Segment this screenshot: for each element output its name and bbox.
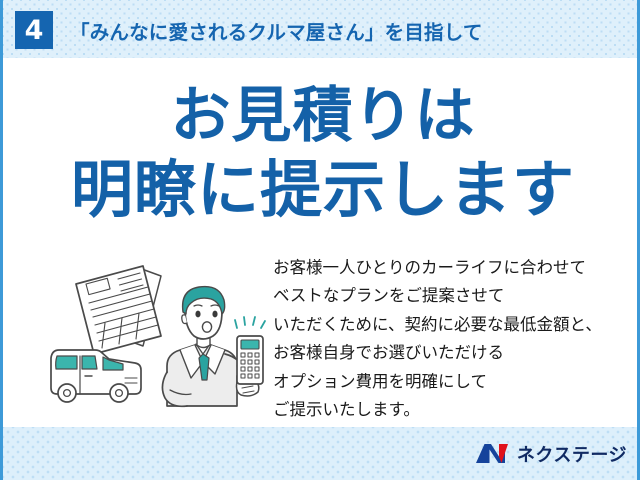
headline-line-2: 明瞭に提示します	[3, 157, 640, 224]
nextage-n-logo-icon	[475, 443, 509, 464]
body-copy-line: オプション費用を明確にして	[273, 368, 633, 396]
body-copy-line: ベストなプランをご提案させて	[273, 282, 633, 310]
page-title: お見積りは 明瞭に提示します	[3, 84, 640, 224]
step-number-badge: 4	[15, 11, 53, 49]
illustration-svg	[39, 262, 269, 412]
illustration-salesman-quotation	[39, 262, 269, 412]
body-copy-line: ご提示いたします。	[273, 396, 633, 424]
header-inner: 4 「みんなに愛されるクルマ屋さん」を目指して	[15, 11, 483, 49]
header-band: 4 「みんなに愛されるクルマ屋さん」を目指して	[3, 0, 640, 58]
headline-line-1: お見積りは	[3, 84, 640, 149]
footer-band: ネクステージ	[3, 427, 640, 480]
body-copy-line: お客様一人ひとりのカーライフに合わせて	[273, 254, 633, 282]
promo-slide: 4 「みんなに愛されるクルマ屋さん」を目指して お見積りは 明瞭に提示します お…	[0, 0, 640, 480]
header-title: 「みんなに愛されるクルマ屋さん」を目指して	[70, 16, 483, 45]
body-copy: お客様一人ひとりのカーライフに合わせて ベストなプランをご提案させて いただくた…	[273, 254, 633, 424]
body-copy-line: お客様自身でお選びいただける	[273, 339, 633, 367]
body-copy-line: いただくために、契約に必要な最低金額と、	[273, 311, 633, 339]
brand-lockup: ネクステージ	[475, 441, 627, 467]
brand-name: ネクステージ	[517, 441, 627, 467]
